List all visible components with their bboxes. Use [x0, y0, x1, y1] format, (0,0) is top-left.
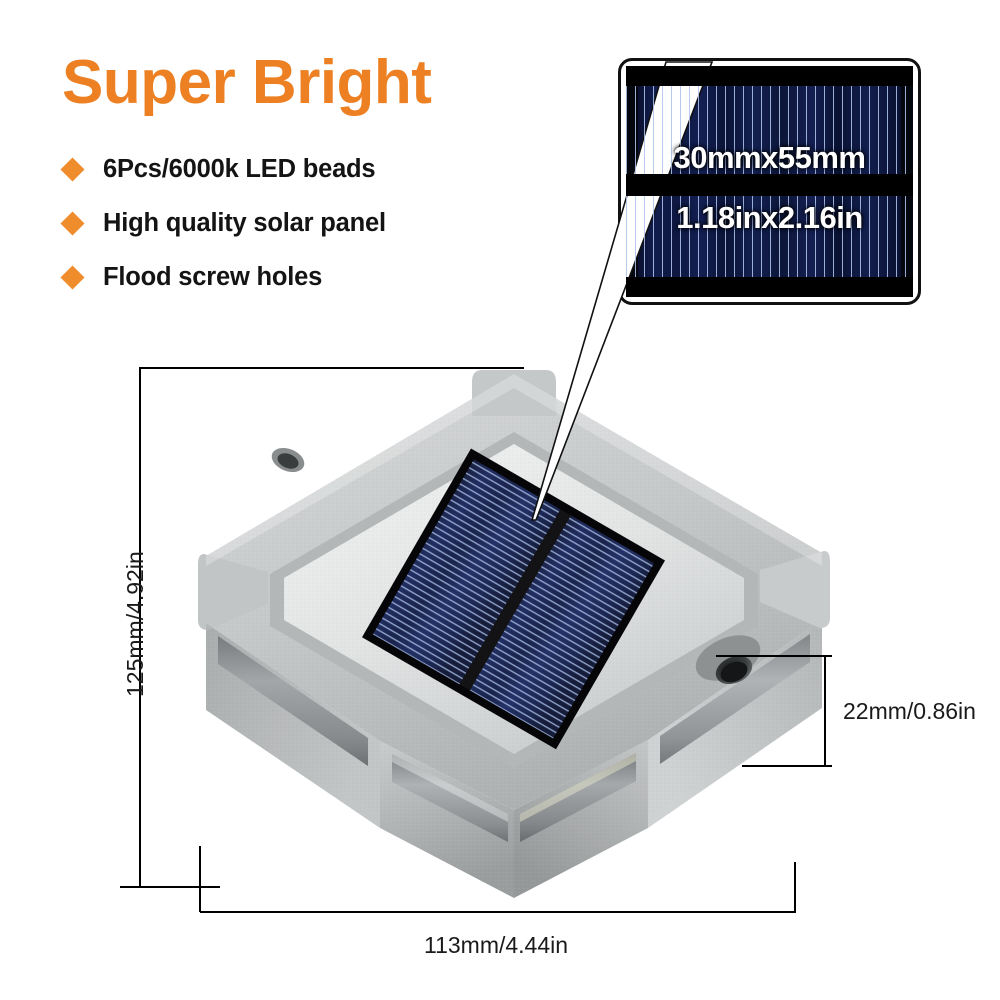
feature-label: High quality solar panel: [103, 209, 386, 238]
thickness-dimension-line: [824, 655, 826, 767]
height-dimension-tick-top: [139, 367, 524, 369]
diamond-bullet-icon: [60, 211, 84, 235]
feature-list: 6Pcs/6000k LED beads High quality solar …: [64, 142, 534, 304]
thickness-leader-top: [716, 655, 832, 657]
height-dimension-tick-bottom: [120, 886, 220, 888]
width-dimension-line: [200, 911, 796, 913]
thickness-dimension-label: 22mm/0.86in: [843, 698, 976, 725]
feature-label: Flood screw holes: [103, 263, 322, 292]
list-item: High quality solar panel: [64, 196, 534, 250]
thickness-leader-bottom: [742, 765, 832, 767]
solar-panel-inset: 30mmx55mm 1.18inx2.16in: [618, 58, 921, 305]
list-item: Flood screw holes: [64, 250, 534, 304]
solar-busbar-bottom: [626, 277, 913, 297]
product-image: [196, 358, 832, 898]
list-item: 6Pcs/6000k LED beads: [64, 142, 534, 196]
panel-size-metric-label: 30mmx55mm: [626, 140, 913, 176]
feature-label: 6Pcs/6000k LED beads: [103, 155, 375, 184]
width-dimension-tick-left: [199, 846, 201, 912]
height-dimension-label: 125mm/4.92in: [122, 551, 149, 697]
width-dimension-tick-right: [794, 862, 796, 912]
diamond-bullet-icon: [60, 265, 84, 289]
solar-panel-closeup-image: 30mmx55mm 1.18inx2.16in: [626, 66, 913, 297]
solar-busbar-middle: [626, 174, 913, 196]
page-title: Super Bright: [62, 52, 431, 114]
product-infographic: Super Bright 6Pcs/6000k LED beads High q…: [0, 0, 1000, 1000]
panel-size-imperial-label: 1.18inx2.16in: [626, 200, 913, 236]
diamond-bullet-icon: [60, 157, 84, 181]
width-dimension-label: 113mm/4.44in: [424, 932, 568, 959]
solar-busbar-top: [626, 66, 913, 86]
